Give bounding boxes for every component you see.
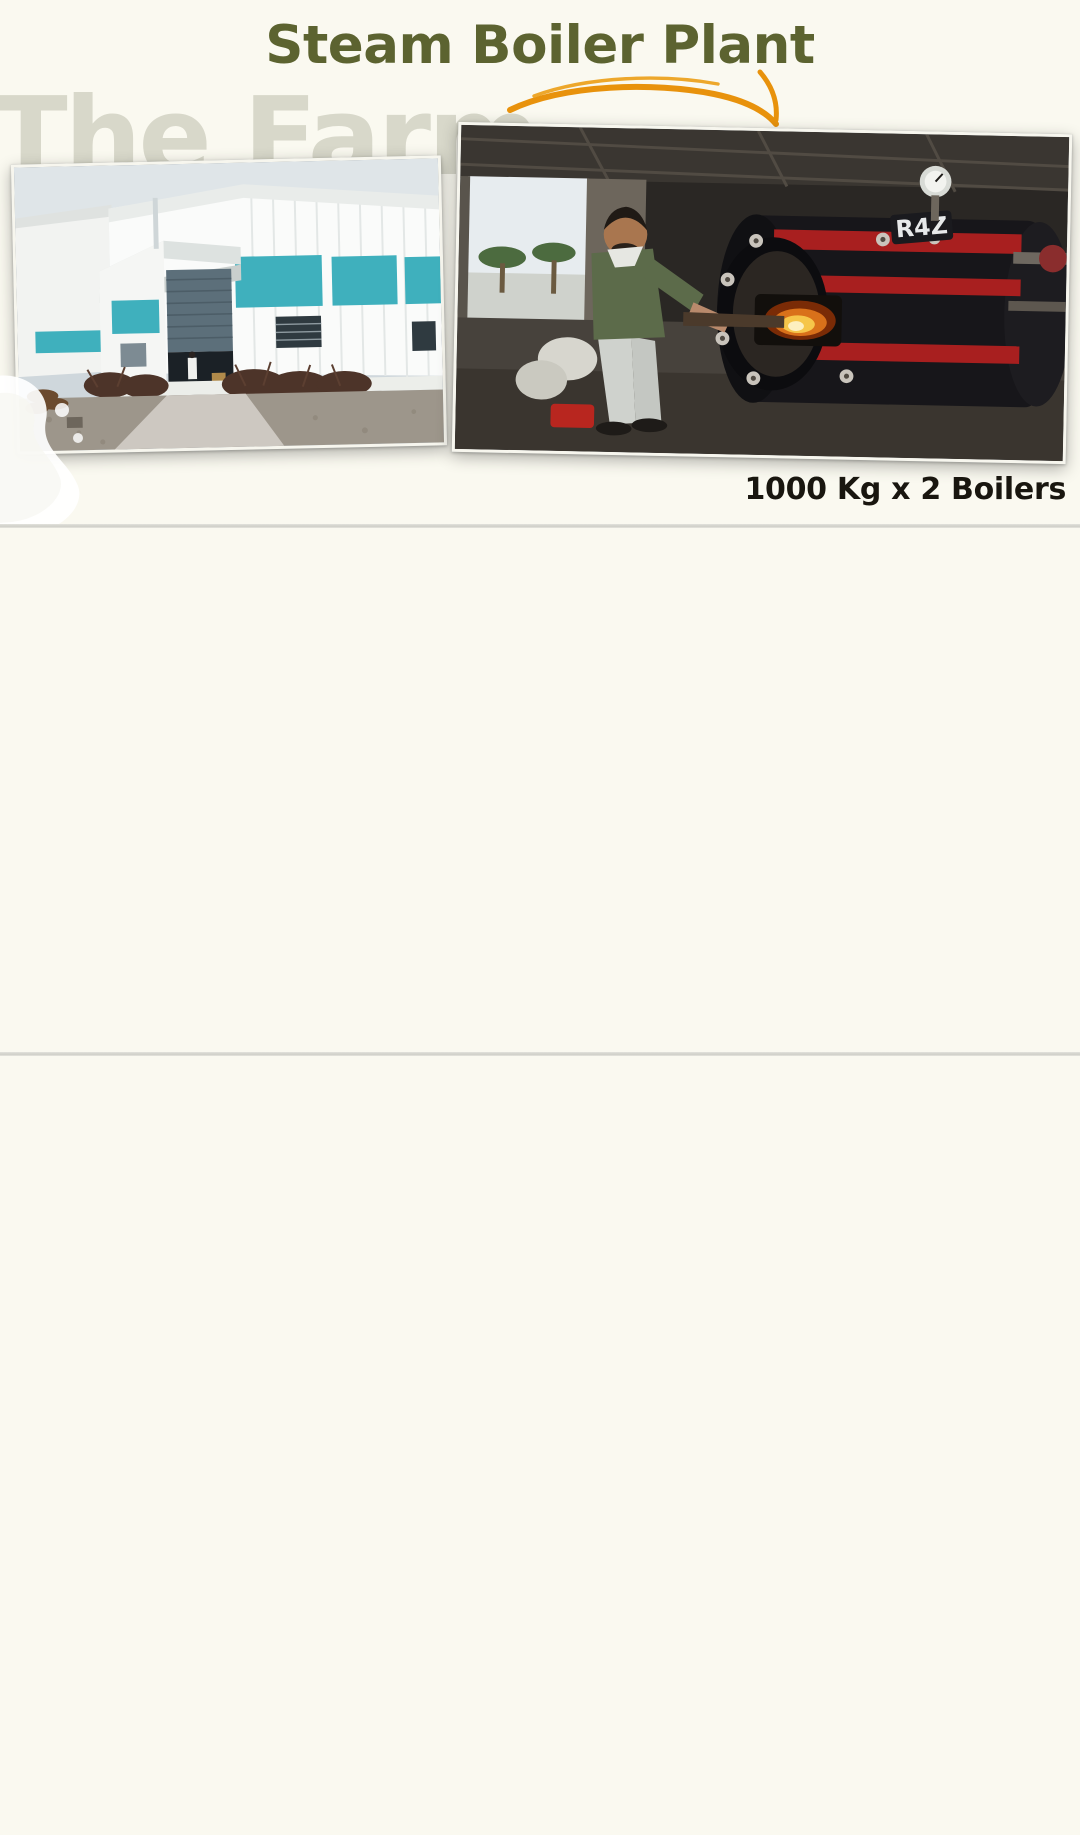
status-badge-boiler-capacity: 1000 Kg x 2 Boilers <box>744 472 1066 507</box>
section-ibt-and-ice-plant: The Farm IBT & Ice-Plant <box>0 528 1080 1056</box>
section-title-wrap: Steam Boiler Plant <box>0 18 1080 74</box>
svg-text:R4Z: R4Z <box>895 211 949 243</box>
section-milk-processing-plant: The Farm Mlik Processing Plant <box>0 1056 1080 1835</box>
page-title-steam-boiler-plant: Steam Boiler Plant <box>265 18 814 74</box>
poster-page: The Farm Steam Boiler Plant <box>0 0 1080 1835</box>
section-steam-boiler-plant: The Farm Steam Boiler Plant <box>0 0 1080 528</box>
factory-exterior-photo <box>11 155 447 454</box>
boiler-firing-photo: R4Z <box>452 122 1072 464</box>
